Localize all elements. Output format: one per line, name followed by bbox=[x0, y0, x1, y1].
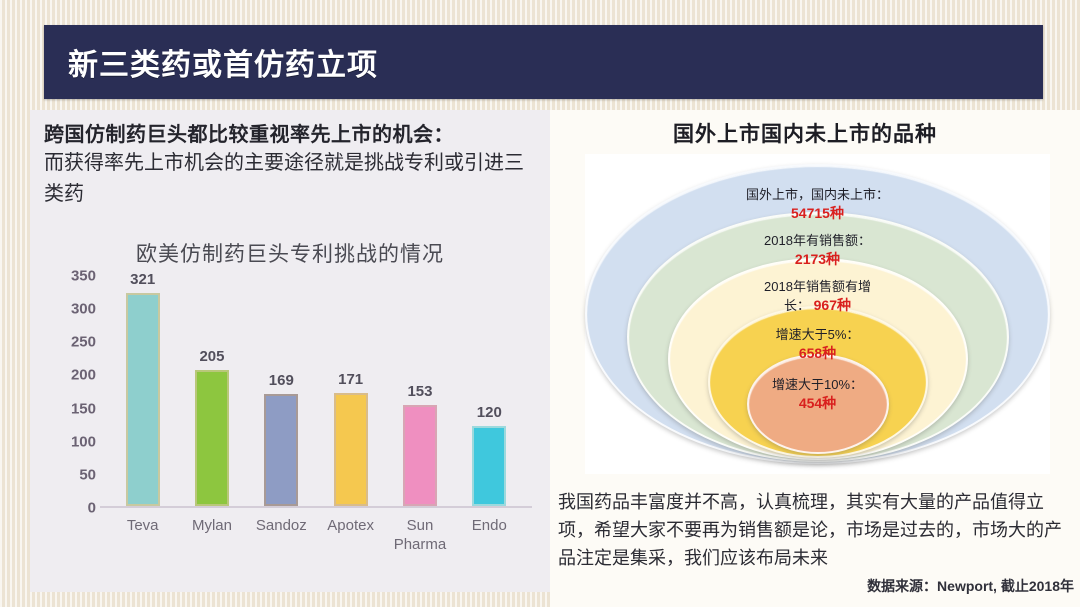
slide-title-bar: 新三类药或首仿药立项 bbox=[44, 25, 1043, 99]
onion-ring-value: 658种 bbox=[776, 344, 860, 362]
bar bbox=[264, 394, 298, 506]
chart-plot-area: 350300250200150100500 321205169171153120 bbox=[108, 276, 524, 508]
bar-series: 321205169171153120 bbox=[108, 274, 524, 506]
x-axis-label: Sandoz bbox=[248, 516, 314, 554]
bar-value-label: 153 bbox=[387, 383, 453, 400]
onion-ring-label-level-1: 国外上市，国内未上市：54715种 bbox=[746, 186, 889, 222]
onion-ring-caption-cont: 长： 967种 bbox=[764, 296, 871, 315]
y-axis-tick: 250 bbox=[71, 334, 96, 351]
y-axis-tick: 300 bbox=[71, 301, 96, 318]
onion-ring-value: 454种 bbox=[772, 394, 863, 412]
y-axis-tick: 200 bbox=[71, 367, 96, 384]
bar-column: 321 bbox=[110, 274, 176, 506]
bar bbox=[126, 293, 160, 506]
chart-title: 欧美仿制药巨头专利挑战的情况 bbox=[30, 238, 550, 268]
x-axis-label: Apotex bbox=[318, 516, 384, 554]
onion-ring-value: 967种 bbox=[814, 297, 851, 313]
y-axis-tick: 150 bbox=[71, 400, 96, 417]
bar-value-label: 205 bbox=[179, 348, 245, 365]
x-axis-label: Teva bbox=[110, 516, 176, 554]
x-axis-label: Mylan bbox=[179, 516, 245, 554]
onion-ring-label-level-3: 2018年销售额有增长： 967种 bbox=[764, 278, 871, 315]
onion-ring-caption: 增速大于10%： bbox=[772, 376, 863, 394]
right-content-panel: 国外上市国内未上市的品种 国外上市，国内未上市：54715种2018年有销售额：… bbox=[550, 110, 1080, 607]
bar-column: 205 bbox=[179, 274, 245, 506]
bar-value-label: 321 bbox=[110, 271, 176, 288]
data-source-note: 数据来源：Newport, 截止2018年 bbox=[867, 576, 1074, 596]
slide-canvas: 新三类药或首仿药立项 跨国仿制药巨头都比较重视率先上市的机会： 而获得率先上市机… bbox=[0, 0, 1080, 607]
onion-ring-label-level-5: 增速大于10%：454种 bbox=[772, 376, 863, 412]
bar-value-label: 169 bbox=[248, 372, 314, 389]
y-axis-tick: 100 bbox=[71, 433, 96, 450]
lead-heading: 跨国仿制药巨头都比较重视率先上市的机会： bbox=[44, 118, 534, 147]
onion-ring-value: 54715种 bbox=[746, 204, 889, 222]
bar bbox=[195, 370, 229, 506]
bar-column: 169 bbox=[248, 274, 314, 506]
lead-body-text: 而获得率先上市机会的主要途径就是挑战专利或引进三类药 bbox=[44, 148, 540, 210]
bar bbox=[403, 405, 437, 506]
right-body-text: 我国药品丰富度并不高，认真梳理，其实有大量的产品值得立项，希望大家不要再为销售额… bbox=[558, 488, 1074, 572]
left-content-panel: 跨国仿制药巨头都比较重视率先上市的机会： 而获得率先上市机会的主要途径就是挑战专… bbox=[30, 110, 550, 592]
onion-ring-value: 2173种 bbox=[764, 250, 871, 268]
bar bbox=[334, 393, 368, 506]
onion-ring-caption: 2018年销售额有增 bbox=[764, 278, 871, 296]
bar-column: 171 bbox=[318, 274, 384, 506]
onion-diagram-container: 国外上市，国内未上市：54715种2018年有销售额：2173种2018年销售额… bbox=[585, 154, 1050, 474]
x-axis-line bbox=[100, 506, 532, 508]
onion-ring-label-level-2: 2018年有销售额：2173种 bbox=[764, 232, 871, 268]
bar-value-label: 120 bbox=[456, 404, 522, 421]
patent-challenge-bar-chart: 欧美仿制药巨头专利挑战的情况 350300250200150100500 321… bbox=[30, 238, 550, 592]
onion-ring-label-level-4: 增速大于5%：658种 bbox=[776, 326, 860, 362]
onion-ring-caption: 2018年有销售额： bbox=[764, 232, 871, 250]
nested-ellipse-diagram: 国外上市，国内未上市：54715种2018年有销售额：2173种2018年销售额… bbox=[585, 154, 1050, 474]
y-axis-tick: 350 bbox=[71, 268, 96, 285]
page-title: 新三类药或首仿药立项 bbox=[68, 40, 378, 84]
x-axis-label: Sun Pharma bbox=[387, 516, 453, 554]
x-axis-label: Endo bbox=[456, 516, 522, 554]
bar-column: 120 bbox=[456, 274, 522, 506]
right-panel-title: 国外上市国内未上市的品种 bbox=[550, 118, 1060, 148]
bar-column: 153 bbox=[387, 274, 453, 506]
bar-value-label: 171 bbox=[318, 371, 384, 388]
x-axis-labels: TevaMylanSandozApotexSun PharmaEndo bbox=[108, 516, 524, 554]
y-axis-tick: 50 bbox=[79, 466, 96, 483]
onion-ring-caption: 国外上市，国内未上市： bbox=[746, 186, 889, 204]
y-axis-tick: 0 bbox=[88, 500, 96, 517]
bar bbox=[472, 426, 506, 506]
onion-ring-caption: 增速大于5%： bbox=[776, 326, 860, 344]
